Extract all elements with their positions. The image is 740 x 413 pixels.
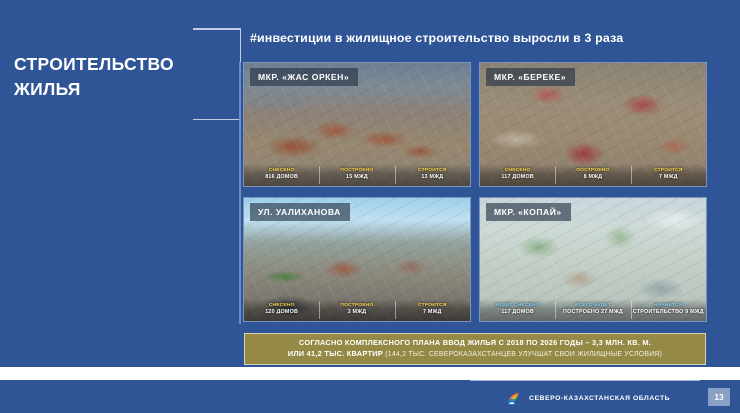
stat-item: СНЕСЕНО 816 ДОМОВ [244, 164, 319, 186]
bracket-bottom-line [193, 119, 240, 121]
photo-tile[interactable]: МКР. «ЖАС ОРКЕН» СНЕСЕНО 816 ДОМОВ ПОСТР… [243, 62, 471, 187]
photo-stats-bar: СНЕСЕНО 816 ДОМОВ ПОСТРОЕНО 15 МЖД СТРОИ… [244, 164, 470, 186]
summary-line-1: СОГЛАСНО КОМПЛЕКСНОГО ПЛАНА ВВОД ЖИЛЬЯ С… [299, 337, 651, 348]
photo-tile-label: МКР. «КОПАЙ» [486, 203, 571, 221]
footer-separator [0, 367, 740, 380]
stat-item: БУДЕТ СНЕСЕНО 117 ДОМОВ [480, 299, 555, 321]
vertical-rule [239, 62, 241, 324]
title-panel: СТРОИТЕЛЬСТВО ЖИЛЬЯ [0, 0, 196, 380]
photo-grid: МКР. «ЖАС ОРКЕН» СНЕСЕНО 816 ДОМОВ ПОСТР… [243, 62, 707, 322]
stat-value: 3 МЖД [319, 309, 394, 317]
page-number: 13 [708, 388, 730, 406]
stat-item: СТРОИТСЯ 7 МЖД [395, 299, 470, 321]
stat-item: НАЧНЕТСЯ СТРОИТЕЛЬСТВО 9 МЖД [631, 299, 706, 321]
photo-tile-label: УЛ. УАЛИХАНОВА [250, 203, 350, 221]
stat-item: СНЕСЕНО 117 ДОМОВ [480, 164, 555, 186]
stat-item: ВСЕГО БУДЕТ ПОСТРОЕНО 27 МЖД [555, 299, 630, 321]
photo-tile[interactable]: МКР. «БЕРЕКЕ» СНЕСЕНО 117 ДОМОВ ПОСТРОЕН… [479, 62, 707, 187]
summary-line-2-note: (144,2 ТЫС. СЕВЕРОКАЗАХСТАНЦЕВ УЛУЧШАТ С… [385, 351, 662, 358]
stat-value: 8 МЖД [555, 174, 630, 182]
footer-brand: СЕВЕРО-КАЗАХСТАНСКАЯ ОБЛАСТЬ [506, 391, 670, 406]
page-title-line2: ЖИЛЬЯ [14, 77, 194, 102]
headline-text: #инвестиции в жилищное строительство выр… [250, 31, 623, 45]
summary-banner: СОГЛАСНО КОМПЛЕКСНОГО ПЛАНА ВВОД ЖИЛЬЯ С… [244, 333, 706, 365]
region-name: СЕВЕРО-КАЗАХСТАНСКАЯ ОБЛАСТЬ [529, 395, 670, 402]
slide-footer: СЕВЕРО-КАЗАХСТАНСКАЯ ОБЛАСТЬ 13 [0, 380, 740, 413]
stat-item: СТРОИТСЯ 13 МЖД [395, 164, 470, 186]
stat-value: 816 ДОМОВ [244, 174, 319, 182]
stat-item: СНЕСЕНО 120 ДОМОВ [244, 299, 319, 321]
stat-value: 120 ДОМОВ [244, 309, 319, 317]
presentation-slide: СТРОИТЕЛЬСТВО ЖИЛЬЯ #инвестиции в жилищн… [0, 0, 740, 413]
summary-line-2: ИЛИ 41,2 ТЫС. КВАРТИР (144,2 ТЫС. СЕВЕРО… [288, 348, 662, 360]
stat-item: ПОСТРОЕНО 8 МЖД [555, 164, 630, 186]
stat-value: 117 ДОМОВ [480, 309, 555, 317]
stat-item: ПОСТРОЕНО 15 МЖД [319, 164, 394, 186]
region-logo-icon [506, 391, 521, 406]
bracket-decoration [193, 28, 241, 120]
photo-tile-label: МКР. «БЕРЕКЕ» [486, 68, 575, 86]
stat-value: ПОСТРОЕНО 27 МЖД [555, 309, 630, 317]
photo-tile[interactable]: УЛ. УАЛИХАНОВА СНЕСЕНО 120 ДОМОВ ПОСТРОЕ… [243, 197, 471, 322]
bracket-top-line [193, 28, 240, 30]
photo-stats-bar: БУДЕТ СНЕСЕНО 117 ДОМОВ ВСЕГО БУДЕТ ПОСТ… [480, 299, 706, 321]
stat-item: ПОСТРОЕНО 3 МЖД [319, 299, 394, 321]
summary-line-2-bold: ИЛИ 41,2 ТЫС. КВАРТИР [288, 349, 383, 358]
stat-item: СТРОИТСЯ 7 МЖД [631, 164, 706, 186]
photo-stats-bar: СНЕСЕНО 117 ДОМОВ ПОСТРОЕНО 8 МЖД СТРОИТ… [480, 164, 706, 186]
stat-value: 15 МЖД [319, 174, 394, 182]
stat-value: 7 МЖД [631, 174, 706, 182]
stat-value: СТРОИТЕЛЬСТВО 9 МЖД [631, 309, 706, 317]
photo-tile[interactable]: МКР. «КОПАЙ» БУДЕТ СНЕСЕНО 117 ДОМОВ ВСЕ… [479, 197, 707, 322]
stat-value: 7 МЖД [395, 309, 470, 317]
photo-tile-label: МКР. «ЖАС ОРКЕН» [250, 68, 358, 86]
page-title-line1: СТРОИТЕЛЬСТВО [14, 52, 194, 77]
stat-value: 117 ДОМОВ [480, 174, 555, 182]
footer-rule [470, 380, 700, 381]
stat-value: 13 МЖД [395, 174, 470, 182]
page-title: СТРОИТЕЛЬСТВО ЖИЛЬЯ [14, 52, 194, 102]
photo-stats-bar: СНЕСЕНО 120 ДОМОВ ПОСТРОЕНО 3 МЖД СТРОИТ… [244, 299, 470, 321]
